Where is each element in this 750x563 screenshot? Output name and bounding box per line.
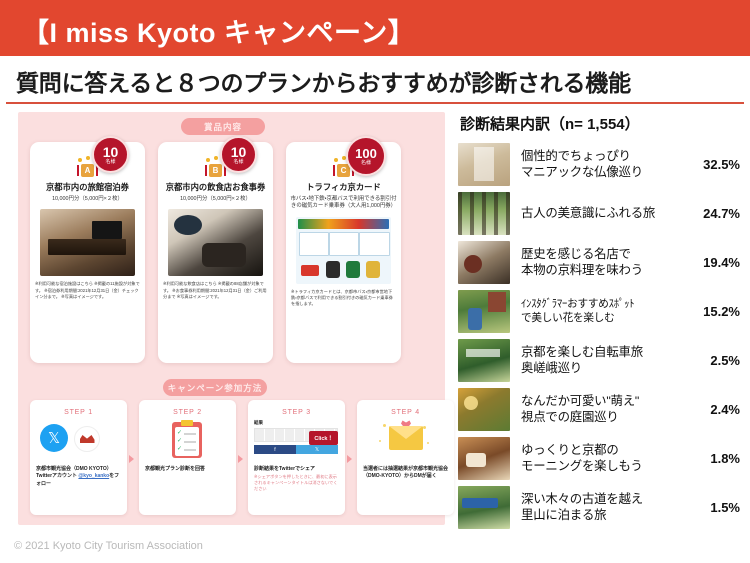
header-bar: 【I miss Kyoto キャンペーン】	[0, 0, 750, 56]
flyer-box-3	[359, 232, 390, 256]
result-label: 京都を楽しむ自転車旅 奥嵯峨巡り	[521, 345, 688, 377]
morning-cafe-thumb	[458, 437, 510, 480]
result-row[interactable]: ｲﾝｽﾀｸﾞﾗﾏｰおすすめｽﾎﾟｯﾄ で美しい花を楽しむ 15.2%	[458, 288, 740, 335]
result-percent: 24.7%	[690, 206, 740, 221]
step-art-4	[357, 420, 454, 464]
prize-subtitle-a: 10,000円分（5,000円×２枚）	[34, 196, 141, 203]
step-text-2: 京都観光プラン診断を回答	[145, 466, 230, 473]
result-label: 深い木々の古道を越え 里山に泊まる旅	[521, 492, 688, 524]
kyoto-association-logo-icon	[74, 426, 100, 452]
flyer-card-graphic	[301, 265, 319, 276]
prize-title-a: 京都市内の旅館宿泊券	[35, 182, 140, 193]
prize-subtitle-b: 10,000円分（5,000円×２枚）	[162, 196, 269, 203]
prize-card-a[interactable]: A 京都市内の旅館宿泊券 10,000円分（5,000円×２枚） ※利用可能な宿…	[30, 142, 145, 363]
result-line-1: 古人の美意識にふれる旅	[521, 206, 688, 222]
click-callout: Click！	[309, 431, 338, 445]
moe-garden-thumb	[458, 388, 510, 431]
step-card-1[interactable]: STEP 1 𝕏 京都市観光協会（DMO KYOTO）Twitterアカウント …	[30, 400, 127, 515]
result-line-1: ゆっくりと京都の	[521, 443, 688, 459]
result-percent: 19.4%	[690, 255, 740, 270]
prize-letter-tag-c: C	[286, 164, 401, 177]
result-row[interactable]: 個性的でちょっぴり マニアックな仏像巡り 32.5%	[458, 141, 740, 188]
step-note-3: ※シェアボタンを押したときに、最初に表示されるキャンペーンタイトルは消さないでく…	[254, 474, 339, 492]
step-text-3: 診断結果をTwitterでシェア	[254, 466, 339, 473]
buddha-statue-book-thumb	[458, 143, 510, 186]
facebook-share-icon[interactable]: f	[254, 445, 296, 454]
result-line-1: 個性的でちょっぴり	[521, 149, 688, 165]
subtitle-area: 質問に答えると８つのプランからおすすめが診断される機能	[0, 56, 750, 104]
step-card-4[interactable]: STEP 4 当選者には抽選結果が京都市観光協会（DMO-KYOTO）からDMが…	[357, 400, 454, 515]
prize-count-b: 10	[231, 145, 247, 159]
flyer-box-1	[299, 232, 329, 256]
share-result-icon: 結果 f 𝕏 Click！	[254, 420, 338, 462]
result-label: ゆっくりと京都の モーニングを楽しもう	[521, 443, 688, 475]
prize-title-b: 京都市内の飲食店お食事券	[163, 182, 268, 193]
traffica-card-photo	[296, 217, 391, 284]
step-arrow-1	[129, 455, 134, 463]
steps-section-badge: キャンペーン参加方法	[163, 379, 267, 396]
prize-letter-b: B	[209, 164, 222, 177]
step-card-3[interactable]: STEP 3 結果 f 𝕏 Click！ 診断結果をTwitterでシェア ※シ…	[248, 400, 345, 515]
logo-mark	[80, 435, 95, 443]
result-percent: 1.5%	[690, 500, 740, 515]
results-title: 診断結果内訳（n= 1,554）	[460, 113, 740, 134]
step-art-1: 𝕏	[30, 420, 127, 464]
result-line-2: マニアックな仏像巡り	[521, 165, 688, 181]
prize-count-c: 100	[355, 147, 377, 160]
kyoto-bus-mascot-icon	[366, 261, 380, 278]
share-buttons: f 𝕏	[254, 445, 338, 454]
bus-mascot-icon	[326, 261, 340, 278]
page-title: 【I miss Kyoto キャンペーン】	[22, 11, 415, 50]
result-percent: 32.5%	[690, 157, 740, 172]
kyoto-cuisine-thumb	[458, 241, 510, 284]
sparkle-icon	[379, 440, 381, 442]
prize-count-unit-c: 名様	[361, 161, 371, 166]
result-row[interactable]: 古人の美意識にふれる旅 24.7%	[458, 190, 740, 237]
traffica-flyer	[296, 217, 391, 284]
step-text-4: 当選者には抽選結果が京都市観光協会（DMO-KYOTO）からDMが届く	[363, 466, 448, 481]
result-line-2: 里山に泊まる旅	[521, 508, 688, 524]
result-line-1: 歴史を感じる名店で	[521, 247, 688, 263]
kimono-flowers-thumb	[458, 290, 510, 333]
result-row[interactable]: なんだか可愛い"萌え" 視点での庭園巡り 2.4%	[458, 386, 740, 433]
result-line-1: 深い木々の古道を越え	[521, 492, 688, 508]
sparkle-icon	[427, 442, 429, 444]
slide-root: 【I miss Kyoto キャンペーン】 質問に答えると８つのプランからおすす…	[0, 0, 750, 563]
result-row[interactable]: 京都を楽しむ自転車旅 奥嵯峨巡り 2.5%	[458, 337, 740, 384]
prize-letter-tag-a: A	[30, 164, 145, 177]
prize-letter-tag-b: B	[158, 164, 273, 177]
result-line-1: 京都を楽しむ自転車旅	[521, 345, 688, 361]
result-percent: 2.5%	[690, 353, 740, 368]
result-row[interactable]: ゆっくりと京都の モーニングを楽しもう 1.8%	[458, 435, 740, 482]
result-percent: 2.4%	[690, 402, 740, 417]
result-label: 古人の美意識にふれる旅	[521, 206, 688, 222]
result-line-2: 本物の京料理を味わう	[521, 263, 688, 279]
prize-card-c[interactable]: C トラフィカ京カード 市バス・地下鉄・京都バスで利用できる割引付きの磁気カード…	[286, 142, 401, 363]
step-label-4: STEP 4	[357, 409, 454, 416]
clipboard-paper: ✓ ✓ ✓	[175, 427, 199, 456]
garden-bamboo-thumb	[458, 192, 510, 235]
prize-subtitle-c: 市バス・地下鉄・京都バスで利用できる割引付きの磁気カード乗車券（大人用1,000…	[290, 196, 397, 211]
twitter-handle-link[interactable]: @kyo_kanko	[78, 473, 109, 479]
prize-title-c: トラフィカ京カード	[291, 182, 396, 193]
ryokan-room-photo	[40, 209, 135, 276]
prize-count-a: 10	[103, 145, 119, 159]
step-label-3: STEP 3	[248, 409, 345, 416]
prize-section-badge: 賞品内容	[181, 118, 265, 135]
result-label: なんだか可愛い"萌え" 視点での庭園巡り	[521, 394, 688, 426]
result-row[interactable]: 深い木々の古道を越え 里山に泊まる旅 1.5%	[458, 484, 740, 531]
sparkle-icon	[423, 426, 426, 429]
clipboard-checklist-icon: ✓ ✓ ✓	[172, 422, 202, 458]
twitter-share-icon[interactable]: 𝕏	[296, 445, 338, 454]
prize-count-unit-a: 名様	[105, 160, 115, 165]
results-panel: 診断結果内訳（n= 1,554） 個性的でちょっぴり マニアックな仏像巡り 32…	[458, 113, 740, 533]
step-art-3: 結果 f 𝕏 Click！	[248, 420, 345, 464]
result-line-2: 奥嵯峨巡り	[521, 361, 688, 377]
kaiseki-meal-photo	[168, 209, 263, 276]
twitter-icon: 𝕏	[40, 424, 68, 452]
result-label: 歴史を感じる名店で 本物の京料理を味わう	[521, 247, 688, 279]
tag-bar-left	[77, 165, 79, 176]
subway-mascot-icon	[346, 261, 360, 278]
result-percent: 15.2%	[690, 304, 740, 319]
result-label: ｲﾝｽﾀｸﾞﾗﾏｰおすすめｽﾎﾟｯﾄ で美しい花を楽しむ	[521, 298, 688, 325]
result-row[interactable]: 歴史を感じる名店で 本物の京料理を味わう 19.4%	[458, 239, 740, 286]
tag-bar-left	[333, 165, 335, 176]
prize-notes-c: ※トラフィカ京カードとは、京都市バス・京都市営地下鉄・京都バスで利用できる割引付…	[291, 289, 396, 308]
footer-copyright: © 2021 Kyoto City Tourism Association	[14, 540, 203, 552]
prize-card-b[interactable]: B 京都市内の飲食店お食事券 10,000円分（5,000円×２枚） ※利用可能…	[158, 142, 273, 363]
step-label-2: STEP 2	[139, 409, 236, 416]
step-art-2: ✓ ✓ ✓	[139, 420, 236, 464]
result-line-2: モーニングを楽しもう	[521, 459, 688, 475]
prize-count-badge-a: 10 名様	[92, 136, 129, 173]
result-line-1: ｲﾝｽﾀｸﾞﾗﾏｰおすすめｽﾎﾟｯﾄ	[521, 298, 688, 312]
result-label: 個性的でちょっぴり マニアックな仏像巡り	[521, 149, 688, 181]
step-arrow-3	[347, 455, 352, 463]
sparkle-icon	[383, 424, 386, 427]
header-divider	[6, 102, 744, 104]
flyer-box-2	[329, 232, 359, 256]
result-line-2: で美しい花を楽しむ	[521, 312, 688, 326]
result-percent: 1.8%	[690, 451, 740, 466]
flyer-header-band	[298, 219, 389, 229]
page-subtitle: 質問に答えると８つのプランからおすすめが診断される機能	[16, 64, 631, 98]
bicycle-trip-thumb	[458, 339, 510, 382]
tag-bar-left	[205, 165, 207, 176]
prize-letter-a: A	[81, 164, 94, 177]
prize-count-badge-c: 100 名様	[346, 136, 386, 176]
envelope-flap	[389, 426, 423, 439]
result-line-2: 視点での庭園巡り	[521, 410, 688, 426]
step-label-1: STEP 1	[30, 409, 127, 416]
kyoto-trail-thumb	[458, 486, 510, 529]
clipboard-clip	[181, 420, 193, 426]
step-text-1: 京都市観光協会（DMO KYOTO）Twitterアカウント @kyo_kank…	[36, 466, 121, 488]
result-line-1: なんだか可愛い"萌え"	[521, 394, 688, 410]
prize-notes-b: ※利用可能な飲食店はこちら ※掲載の88店舗が対象です。 ※お食事券利用期間:2…	[163, 281, 268, 300]
result-label: 結果	[254, 420, 338, 426]
prize-notes-a: ※利用可能な宿泊施設はこちら ※掲載の11施設が対象です。 ※宿泊券利用期間:2…	[35, 281, 140, 300]
prize-count-unit-b: 名様	[233, 160, 243, 165]
prize-count-badge-b: 10 名様	[220, 136, 257, 173]
step-arrow-2	[238, 455, 243, 463]
step-card-2[interactable]: STEP 2 ✓ ✓ ✓ 京都観光プラン診断を回答	[139, 400, 236, 515]
mail-envelope-icon	[389, 426, 423, 450]
